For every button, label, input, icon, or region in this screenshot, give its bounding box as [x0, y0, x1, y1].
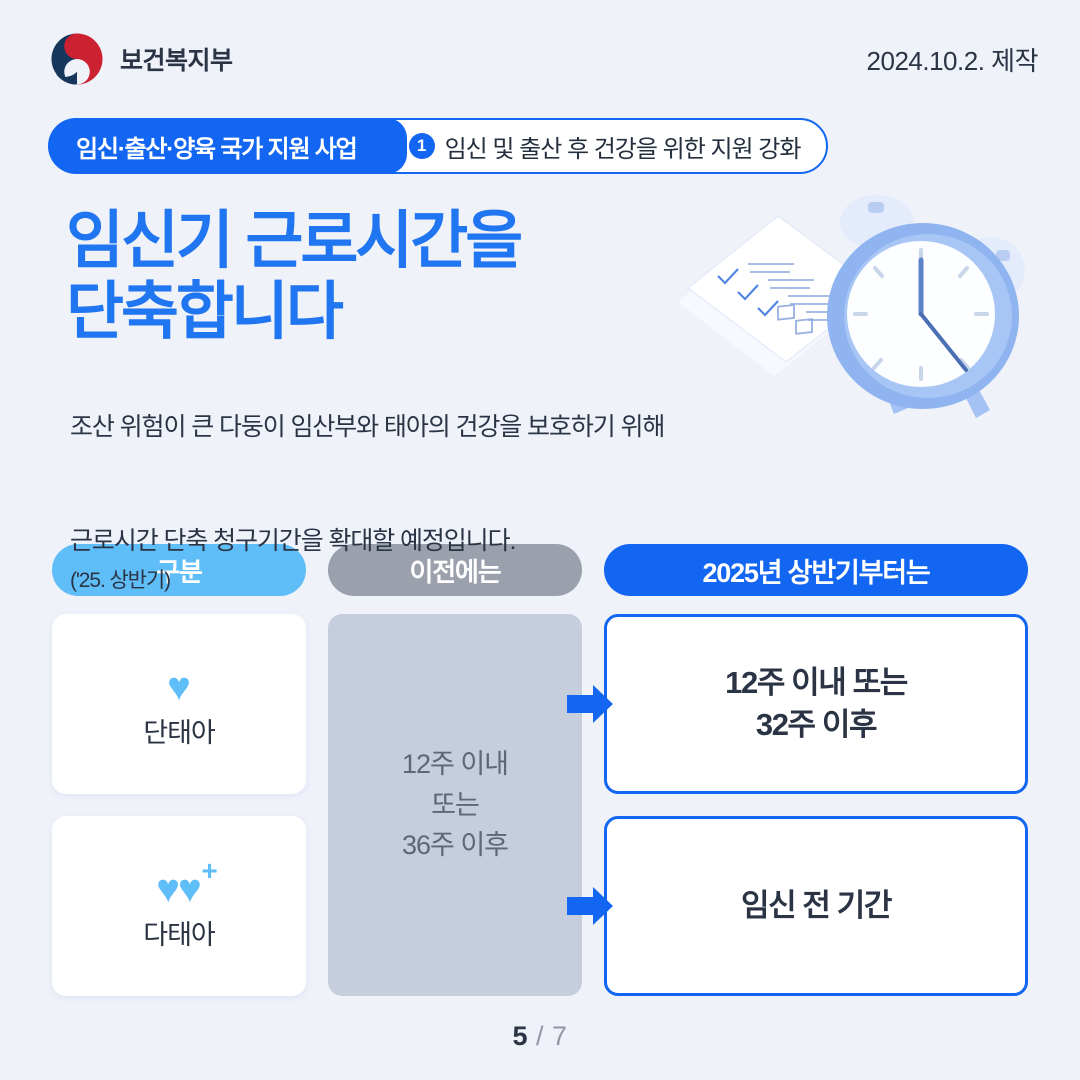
topic-pill: 1 임신 및 출산 후 건강을 위한 지원 강화 [385, 118, 829, 174]
program-pill-label: 임신·출산·양육 국가 지원 사업 [76, 129, 357, 164]
heart-glyph: ♥ [178, 871, 202, 907]
produced-date: 2024.10.2. 제작 [867, 41, 1038, 78]
topic-pill-label: 임신 및 출산 후 건강을 위한 지원 강화 [445, 129, 801, 164]
page-separator: / [528, 1021, 552, 1051]
badge-row: 임신·출산·양육 국가 지원 사업 1 임신 및 출산 후 건강을 위한 지원 … [48, 118, 828, 174]
description-line-1: 조산 위험이 큰 다둥이 임산부와 태아의 건강을 보호하기 위해 [70, 408, 664, 446]
heart-glyph: ♥ [167, 669, 191, 705]
category-card-multiples: ♥ ♥ + 다태아 [52, 816, 306, 996]
korea-government-taegeuk-logo-icon [48, 30, 106, 88]
page-indicator: 5 / 7 [0, 1021, 1080, 1052]
heart-glyph: ♥ [156, 871, 180, 907]
category-label: 다태아 [143, 913, 215, 952]
double-heart-plus-icon: ♥ ♥ + [156, 861, 202, 907]
plus-icon: + [201, 857, 217, 885]
comparison-body-row: ♥ 단태아 ♥ ♥ + 다태아 12주 이내 또는 36주 이후 [52, 614, 1028, 996]
category-label: 단태아 [143, 711, 215, 750]
after-value: 임신 전 기간 [741, 885, 891, 927]
description-line-2-text: 근로시간 단축 청구기간을 확대할 예정입니다. [70, 527, 515, 555]
before-column: 12주 이내 또는 36주 이후 [328, 614, 582, 996]
description-note: ('25. 상반기) [70, 569, 170, 592]
after-card-singleton: 12주 이내 또는 32주 이후 [604, 614, 1028, 794]
alarm-clock-and-checklist-illustration-icon [670, 180, 1060, 420]
before-value: 12주 이내 또는 36주 이후 [402, 744, 508, 866]
category-card-singleton: ♥ 단태아 [52, 614, 306, 794]
category-column: ♥ 단태아 ♥ ♥ + 다태아 [52, 614, 306, 996]
right-arrow-icon [567, 683, 613, 725]
page-description: 조산 위험이 큰 다둥이 임산부와 태아의 건강을 보호하기 위해 근로시간 단… [70, 370, 664, 636]
single-heart-icon: ♥ [167, 659, 191, 705]
page-header: 보건복지부 2024.10.2. 제작 [0, 26, 1080, 92]
current-page: 5 [512, 1021, 528, 1051]
page-title: 임신기 근로시간을 단축합니다 [66, 206, 520, 348]
after-column: 12주 이내 또는 32주 이후 임신 전 기간 [604, 614, 1028, 996]
infographic-page: 보건복지부 2024.10.2. 제작 임신·출산·양육 국가 지원 사업 1 … [0, 0, 1080, 1080]
total-pages: 7 [552, 1021, 568, 1051]
topic-number-badge: 1 [409, 133, 435, 159]
brand-name: 보건복지부 [120, 41, 233, 77]
after-card-multiples: 임신 전 기간 [604, 816, 1028, 996]
after-value: 12주 이내 또는 32주 이후 [725, 662, 907, 746]
description-line-2: 근로시간 단축 청구기간을 확대할 예정입니다. ('25. 상반기) [70, 484, 664, 598]
column-header-after: 2025년 상반기부터는 [604, 544, 1028, 596]
program-pill: 임신·출산·양육 국가 지원 사업 [48, 118, 387, 174]
right-arrow-icon [567, 885, 613, 927]
ministry-brand: 보건복지부 [48, 30, 233, 88]
